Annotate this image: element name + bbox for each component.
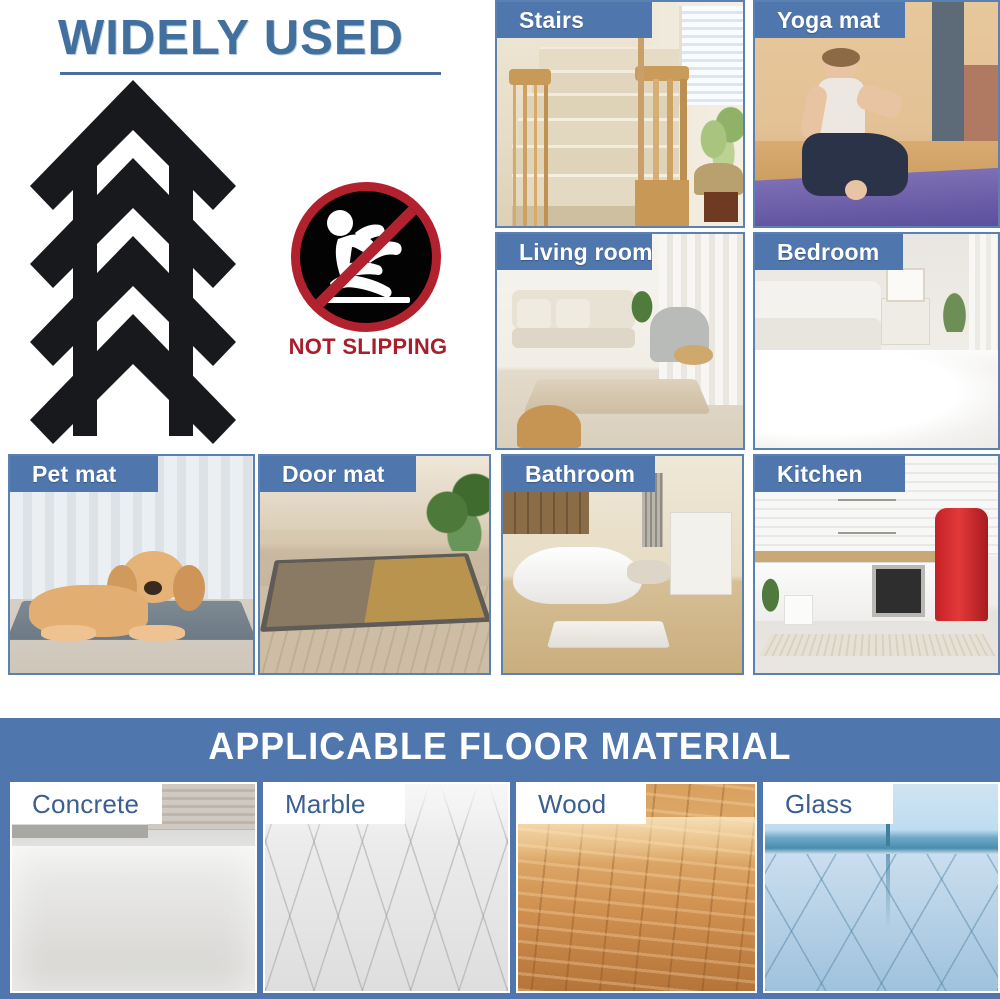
usage-tile-label: Yoga mat (755, 2, 905, 38)
door-mat (260, 553, 489, 632)
floor-tile-wood: Wood (516, 782, 757, 993)
red-fridge (935, 508, 988, 621)
houseplant (694, 96, 743, 168)
usage-tile-door-mat: Door mat (258, 454, 491, 675)
floor-tile-label: Wood (518, 784, 646, 824)
prohibition-circle (291, 182, 441, 332)
not-slipping-sign: NOT SLIPPING (283, 182, 443, 362)
floor-material-banner: APPLICABLE FLOOR MATERIAL (0, 718, 1000, 776)
usage-tile-living-room: Living room (495, 232, 745, 450)
sofa (512, 290, 635, 358)
usage-tile-stairs: Stairs (495, 0, 745, 228)
usage-tile-yoga-mat: Yoga mat (753, 0, 1000, 228)
side-table (674, 345, 713, 364)
floor-tile-concrete: Concrete (10, 782, 257, 993)
usage-tile-label: Living room (497, 234, 652, 270)
floor-material-title: APPLICABLE FLOOR MATERIAL (30, 718, 970, 776)
bathtub (513, 547, 642, 603)
product-infographic: WIDELY USED (0, 0, 1000, 999)
floor-tile-label: Concrete (12, 784, 162, 824)
usage-tile-label: Stairs (497, 2, 652, 38)
woman-meditating (789, 51, 915, 208)
coffee-table (517, 405, 581, 448)
usage-tile-bathroom: Bathroom (501, 454, 744, 675)
heading-block: WIDELY USED (0, 0, 480, 90)
usage-tile-label: Kitchen (755, 456, 905, 492)
right-banister (635, 15, 689, 226)
chevron-gripper-piece (28, 312, 238, 462)
wall-shelf (838, 499, 896, 534)
runner-rug (758, 634, 994, 656)
usage-tile-label: Pet mat (10, 456, 158, 492)
nightstand (881, 298, 930, 345)
shelf-cabinet (670, 512, 732, 594)
usage-tile-pet-mat: Pet mat (8, 454, 255, 675)
page-title: WIDELY USED (58, 10, 404, 66)
pillar-reflection (886, 854, 890, 929)
usage-tile-label: Bedroom (755, 234, 903, 270)
houseplant (416, 465, 489, 552)
houseplant (625, 281, 659, 324)
framed-art (886, 268, 925, 302)
usage-tile-label: Door mat (260, 456, 416, 492)
title-underline-divider (60, 72, 441, 75)
white-bin (784, 595, 813, 625)
oven (872, 565, 925, 617)
usage-tile-kitchen: Kitchen (753, 454, 1000, 675)
floor-tile-glass: Glass (763, 782, 1000, 993)
floor-tile-label: Glass (765, 784, 893, 824)
bath-mat (547, 621, 670, 648)
floor-tile-label: Marble (265, 784, 405, 824)
floor-tile-marble: Marble (263, 782, 510, 993)
usage-tile-bedroom: Bedroom (753, 232, 1000, 450)
rolled-towel (627, 560, 670, 584)
usage-tile-label: Bathroom (503, 456, 655, 492)
left-banister (509, 69, 551, 226)
potted-plant (757, 578, 784, 621)
puppy (29, 551, 214, 651)
chevron-gripper-stack (14, 78, 254, 438)
fluffy-rug (755, 350, 998, 448)
not-slipping-label: NOT SLIPPING (283, 334, 453, 360)
countertop (755, 551, 945, 562)
